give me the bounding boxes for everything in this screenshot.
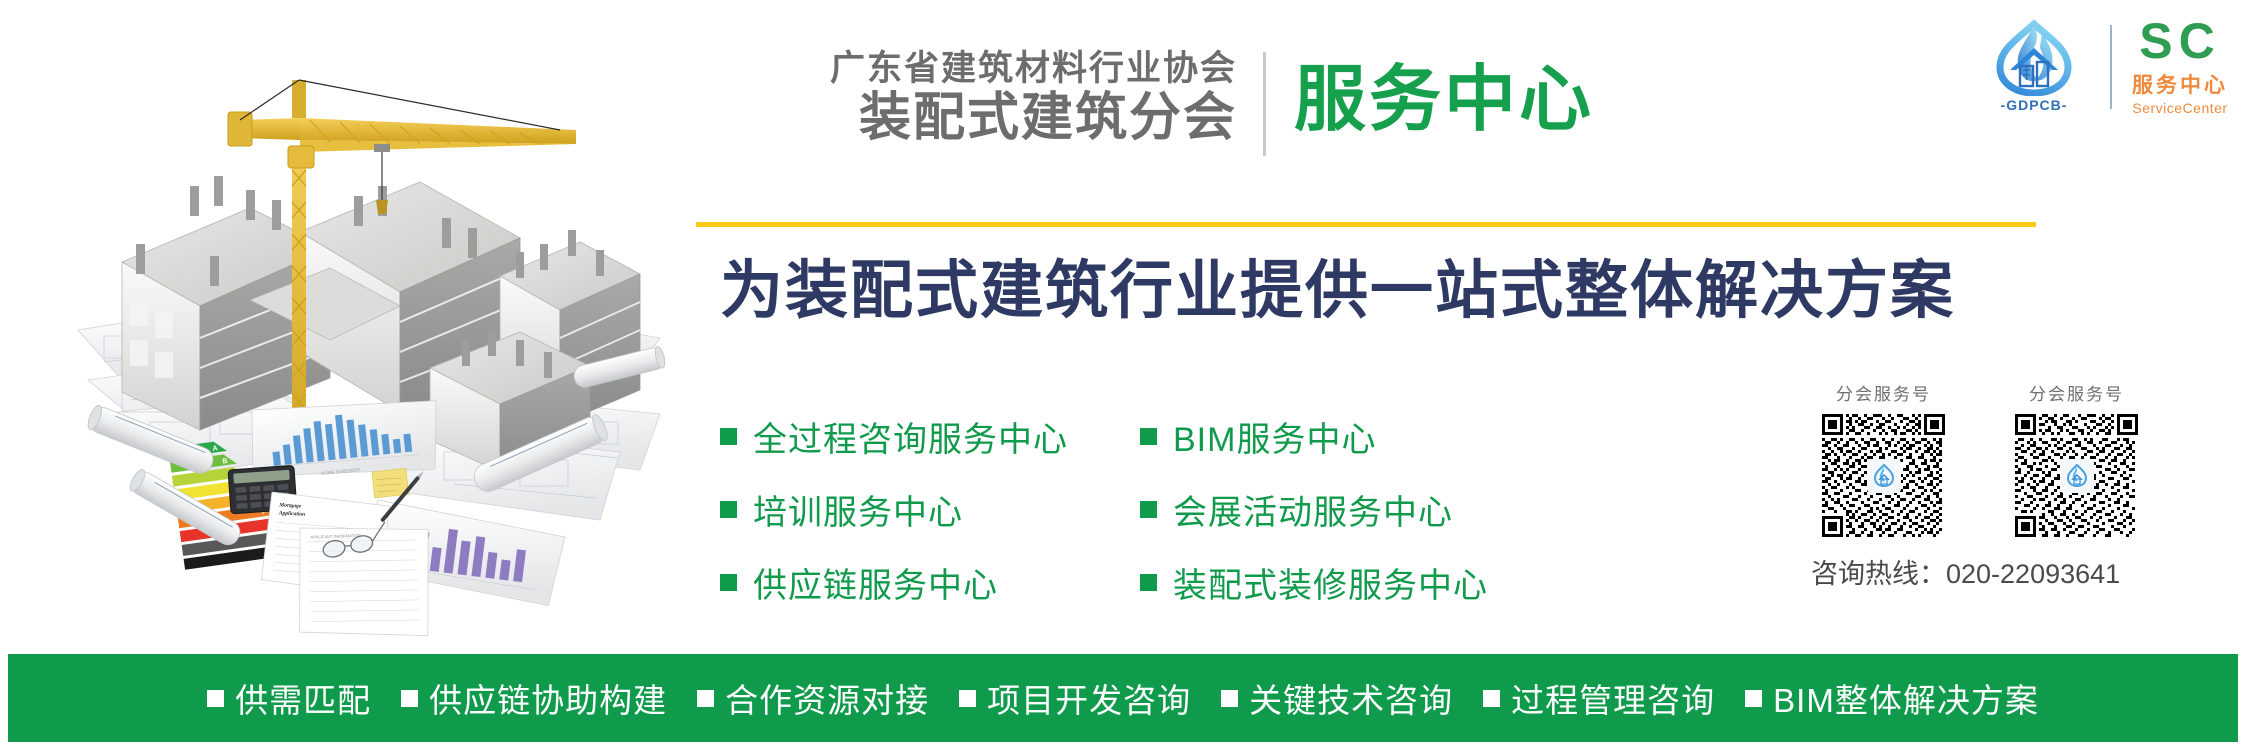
qr-center-logo xyxy=(2060,459,2094,493)
footer-item-label: 关键技术咨询 xyxy=(1249,674,1453,722)
main-headline: 为装配式建筑行业提供一站式整体解决方案 xyxy=(720,258,1955,324)
service-item[interactable]: 全过程咨询服务中心 xyxy=(720,410,1140,462)
service-item-label: 培训服务中心 xyxy=(753,485,963,534)
footer-item[interactable]: 供应链协助构建 xyxy=(401,674,667,722)
service-item[interactable]: 供应链服务中心 xyxy=(720,556,1140,608)
qr-caption: 分会服务号 xyxy=(1836,380,1931,405)
organization-names: 广东省建筑材料行业协会 装配式建筑分会 xyxy=(830,48,1263,149)
footer-item[interactable]: 合作资源对接 xyxy=(697,674,929,722)
svg-text:Mortgage: Mortgage xyxy=(278,502,302,509)
hotline-text: 咨询热线：020-22093641 xyxy=(1805,552,2225,591)
service-item[interactable]: BIM服务中心 xyxy=(1140,410,1560,462)
title-vertical-divider xyxy=(1263,52,1266,156)
footer-service-bar: 供需匹配 供应链协助构建 合作资源对接 项目开发咨询 关键技术咨询 过程管理咨询… xyxy=(8,654,2238,742)
square-bullet-icon xyxy=(697,690,714,707)
square-bullet-icon xyxy=(1140,428,1157,445)
qr-code-cell[interactable]: 分会服务号 xyxy=(1998,380,2155,537)
square-bullet-icon xyxy=(720,428,737,445)
footer-item[interactable]: 关键技术咨询 xyxy=(1221,674,1453,722)
square-bullet-icon xyxy=(1140,574,1157,591)
construction-site-3d-render-icon: ABC DEF GHI xyxy=(0,0,700,645)
qr-contact-area: 分会服务号 xyxy=(1805,380,2225,591)
service-item[interactable]: 会展活动服务中心 xyxy=(1140,483,1560,535)
square-bullet-icon xyxy=(401,690,418,707)
service-center-list: 全过程咨询服务中心 培训服务中心 供应链服务中心 BIM服务中心 xyxy=(720,410,1560,629)
service-item-label: BIM服务中心 xyxy=(1173,412,1376,461)
svg-text:A: A xyxy=(212,445,218,453)
service-item[interactable]: 装配式装修服务中心 xyxy=(1140,556,1560,608)
service-item-label: 装配式装修服务中心 xyxy=(1173,558,1488,607)
service-item[interactable]: 培训服务中心 xyxy=(720,483,1140,535)
gold-divider-rule xyxy=(696,222,2036,227)
service-item-label: 会展活动服务中心 xyxy=(1173,485,1453,534)
footer-item[interactable]: 供需匹配 xyxy=(207,674,371,722)
square-bullet-icon xyxy=(1745,690,1762,707)
qr-center-logo xyxy=(1867,459,1901,493)
qr-code-image-2[interactable] xyxy=(2015,414,2138,537)
square-bullet-icon xyxy=(720,501,737,518)
banner-content: 广东省建筑材料行业协会 装配式建筑分会 服务中心 为装配式建筑行业提供一站式整体… xyxy=(690,0,2246,645)
footer-item-label: BIM整体解决方案 xyxy=(1773,674,2039,722)
service-item-label: 全过程咨询服务中心 xyxy=(753,412,1068,461)
square-bullet-icon xyxy=(720,574,737,591)
footer-item[interactable]: BIM整体解决方案 xyxy=(1745,674,2039,722)
square-bullet-icon xyxy=(207,690,224,707)
qr-code-row: 分会服务号 xyxy=(1805,380,2225,537)
svg-text:B: B xyxy=(222,458,228,466)
footer-item-label: 过程管理咨询 xyxy=(1511,674,1715,722)
construction-site-illustration: ABC DEF GHI xyxy=(0,0,700,645)
square-bullet-icon xyxy=(1483,690,1500,707)
square-bullet-icon xyxy=(1221,690,1238,707)
footer-item-label: 供需匹配 xyxy=(235,674,371,722)
footer-item-label: 合作资源对接 xyxy=(725,674,929,722)
association-name: 广东省建筑材料行业协会 xyxy=(830,48,1237,89)
footer-item-label: 项目开发咨询 xyxy=(987,674,1191,722)
square-bullet-icon xyxy=(959,690,976,707)
qr-code-cell[interactable]: 分会服务号 xyxy=(1805,380,1962,537)
house-flame-logo-icon xyxy=(1871,463,1897,489)
promotional-banner: ABC DEF GHI xyxy=(0,0,2246,752)
service-column-left: 全过程咨询服务中心 培训服务中心 供应链服务中心 xyxy=(720,410,1140,629)
branch-name: 装配式建筑分会 xyxy=(859,89,1237,148)
footer-item[interactable]: 项目开发咨询 xyxy=(959,674,1191,722)
service-center-heading: 服务中心 xyxy=(1294,64,1594,136)
footer-item-label: 供应链协助构建 xyxy=(429,674,667,722)
service-item-label: 供应链服务中心 xyxy=(753,558,998,607)
house-flame-logo-icon xyxy=(2064,463,2090,489)
footer-item[interactable]: 过程管理咨询 xyxy=(1483,674,1715,722)
service-column-right: BIM服务中心 会展活动服务中心 装配式装修服务中心 xyxy=(1140,410,1560,629)
organization-title-block: 广东省建筑材料行业协会 装配式建筑分会 服务中心 xyxy=(830,48,1594,156)
qr-code-image-1[interactable] xyxy=(1822,414,1945,537)
qr-caption: 分会服务号 xyxy=(2029,380,2124,405)
square-bullet-icon xyxy=(1140,501,1157,518)
